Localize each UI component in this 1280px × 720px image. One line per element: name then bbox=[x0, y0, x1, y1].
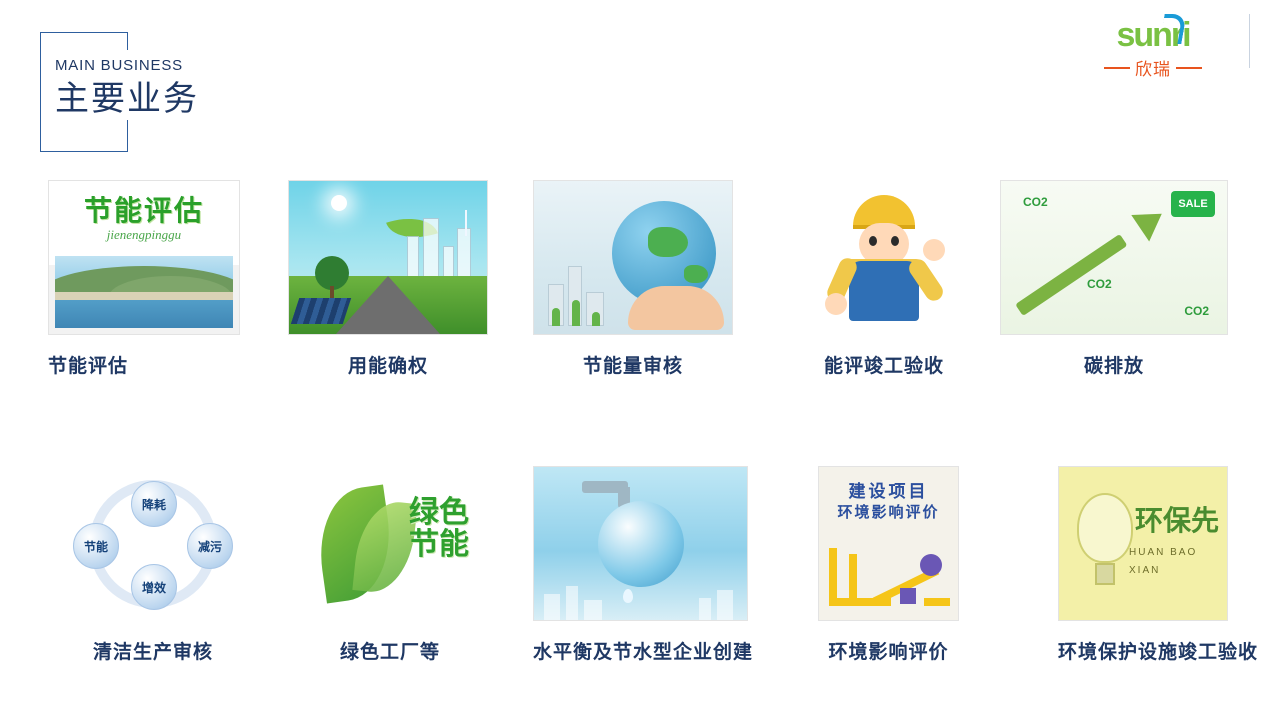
company-logo: sunri 欣瑞 bbox=[1078, 18, 1228, 80]
business-row-1: 节能评估 jienengpinggu 节能评估 bbox=[0, 180, 1280, 440]
green-text-line2: 节能 bbox=[409, 527, 469, 562]
eco-pinyin-2: XIAN bbox=[1129, 565, 1160, 576]
environmental-impact-assessment-poster: 建设项目 环境影响评价 bbox=[818, 466, 959, 621]
business-card[interactable]: 能评竣工验收 bbox=[790, 180, 978, 378]
energy-assessment-acceptance-image bbox=[790, 180, 978, 335]
logo-company-cn: 欣瑞 bbox=[1135, 55, 1171, 80]
business-card[interactable]: CO2 CO2 CO2 SALE 碳排放 bbox=[1000, 180, 1228, 378]
page-title-cn: 主要业务 bbox=[55, 80, 475, 119]
business-card[interactable]: 节能评估 jienengpinggu 节能评估 bbox=[48, 180, 240, 378]
cycle-node: 增效 bbox=[131, 564, 177, 610]
card-caption: 环境保护设施竣工验收 bbox=[1058, 637, 1228, 664]
logo-swoosh-icon bbox=[1159, 14, 1186, 44]
cleaner-production-audit-diagram: 降耗 减污 增效 节能 bbox=[58, 466, 248, 621]
poster-pinyin-text: jienengpinggu bbox=[49, 227, 239, 243]
energy-saving-audit-image bbox=[533, 180, 733, 335]
card-caption: 能评竣工验收 bbox=[790, 351, 978, 378]
business-row-2: 降耗 减污 增效 节能 清洁生产审核 绿色 节能 bbox=[0, 466, 1280, 720]
logo-bar-right-icon bbox=[1176, 67, 1202, 69]
page-title-en: MAIN BUSINESS bbox=[55, 57, 475, 74]
business-card[interactable]: 建设项目 环境影响评价 环境影响评价 bbox=[818, 466, 959, 664]
sale-badge: SALE bbox=[1171, 191, 1215, 217]
energy-saving-assessment-poster: 节能评估 jienengpinggu bbox=[48, 180, 240, 335]
cycle-node: 降耗 bbox=[131, 481, 177, 527]
environmental-protection-acceptance-poster: 环保先 HUAN BAO XIAN bbox=[1058, 466, 1228, 621]
business-card[interactable]: 降耗 减污 增效 节能 清洁生产审核 bbox=[58, 466, 248, 664]
card-caption: 用能确权 bbox=[288, 351, 488, 378]
poster-title-text: 节能评估 bbox=[49, 189, 239, 229]
card-caption: 节能评估 bbox=[48, 351, 240, 378]
card-caption: 节能量审核 bbox=[533, 351, 733, 378]
business-grid: 节能评估 jienengpinggu 节能评估 bbox=[0, 180, 1280, 720]
cycle-node: 节能 bbox=[73, 523, 119, 569]
carbon-emission-image: CO2 CO2 CO2 SALE bbox=[1000, 180, 1228, 335]
header-divider bbox=[1249, 14, 1250, 68]
business-card[interactable]: 节能量审核 bbox=[533, 180, 733, 378]
logo-bar-left-icon bbox=[1104, 67, 1130, 69]
card-caption: 水平衡及节水型企业创建 bbox=[533, 637, 748, 664]
business-card[interactable]: 环保先 HUAN BAO XIAN 环境保护设施竣工验收 bbox=[1058, 466, 1228, 664]
eia-line2: 环境影响评价 bbox=[819, 501, 958, 522]
eco-pinyin-1: HUAN BAO bbox=[1129, 547, 1197, 558]
green-text-line1: 绿色 bbox=[409, 495, 469, 530]
eia-line1: 建设项目 bbox=[819, 477, 958, 502]
logo-subtitle: 欣瑞 bbox=[1078, 55, 1228, 80]
card-caption: 环境影响评价 bbox=[818, 637, 959, 664]
card-caption: 清洁生产审核 bbox=[58, 637, 248, 664]
business-card[interactable]: 用能确权 bbox=[288, 180, 488, 378]
card-caption: 绿色工厂等 bbox=[300, 637, 480, 664]
business-card[interactable]: 水平衡及节水型企业创建 bbox=[533, 466, 748, 664]
slide: MAIN BUSINESS 主要业务 sunri 欣瑞 节能评估 jien bbox=[0, 0, 1280, 720]
cycle-node: 减污 bbox=[187, 523, 233, 569]
page-title: MAIN BUSINESS 主要业务 bbox=[55, 57, 475, 119]
water-balance-image bbox=[533, 466, 748, 621]
co2-label: CO2 bbox=[1023, 195, 1048, 209]
card-caption: 碳排放 bbox=[1000, 351, 1228, 378]
eco-text: 环保先 bbox=[1135, 499, 1219, 539]
energy-use-rights-image bbox=[288, 180, 488, 335]
business-card[interactable]: 绿色 节能 绿色工厂等 bbox=[300, 466, 480, 664]
green-factory-image: 绿色 节能 bbox=[300, 466, 480, 621]
